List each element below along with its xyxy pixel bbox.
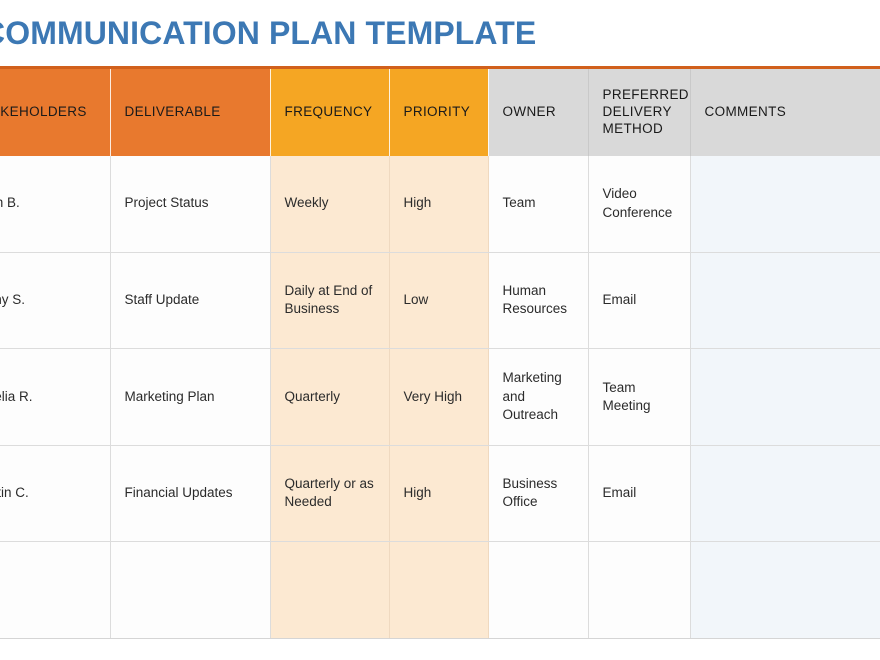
cell-stakeholders[interactable]: Martin C. (0, 445, 110, 542)
cell-stakeholders[interactable]: Amelia R. (0, 349, 110, 446)
column-header-deliverable[interactable]: DELIVERABLE (110, 68, 270, 156)
column-header-stakeholders[interactable]: STAKEHOLDERS (0, 68, 110, 156)
cell-frequency[interactable]: Quarterly or as Needed (270, 445, 389, 542)
cell-method[interactable] (588, 542, 690, 639)
cell-method[interactable]: Team Meeting (588, 349, 690, 446)
table-row: Martin C. Financial Updates Quarterly or… (0, 445, 880, 542)
cell-frequency[interactable]: Weekly (270, 156, 389, 253)
table-row (0, 542, 880, 639)
table-header-row: STAKEHOLDERS DELIVERABLE FREQUENCY PRIOR… (0, 68, 880, 156)
cell-comments[interactable] (690, 252, 880, 349)
column-header-frequency[interactable]: FREQUENCY (270, 68, 389, 156)
cell-owner[interactable] (488, 542, 588, 639)
cell-owner[interactable]: Human Resources (488, 252, 588, 349)
cell-stakeholders[interactable] (0, 542, 110, 639)
cell-comments[interactable] (690, 542, 880, 639)
cell-owner[interactable]: Marketing and Outreach (488, 349, 588, 446)
communication-plan-table: STAKEHOLDERS DELIVERABLE FREQUENCY PRIOR… (0, 66, 880, 639)
plan-table-container: STAKEHOLDERS DELIVERABLE FREQUENCY PRIOR… (0, 66, 880, 639)
cell-owner[interactable]: Team (488, 156, 588, 253)
cell-priority[interactable]: High (389, 156, 488, 253)
column-header-priority[interactable]: PRIORITY (389, 68, 488, 156)
cell-frequency[interactable] (270, 542, 389, 639)
cell-priority[interactable]: High (389, 445, 488, 542)
table-row: John B. Project Status Weekly High Team … (0, 156, 880, 253)
cell-priority[interactable]: Very High (389, 349, 488, 446)
cell-method[interactable]: Email (588, 445, 690, 542)
table-row: Amelia R. Marketing Plan Quarterly Very … (0, 349, 880, 446)
cell-deliverable[interactable]: Financial Updates (110, 445, 270, 542)
page-title: COMMUNICATION PLAN TEMPLATE (0, 17, 536, 49)
cell-comments[interactable] (690, 349, 880, 446)
title-bar: COMMUNICATION PLAN TEMPLATE (0, 0, 880, 66)
cell-stakeholders[interactable]: John B. (0, 156, 110, 253)
cell-deliverable[interactable]: Marketing Plan (110, 349, 270, 446)
cell-frequency[interactable]: Quarterly (270, 349, 389, 446)
cell-method[interactable]: Video Conference (588, 156, 690, 253)
cell-method[interactable]: Email (588, 252, 690, 349)
cell-deliverable[interactable]: Project Status (110, 156, 270, 253)
cell-comments[interactable] (690, 156, 880, 253)
table-header: STAKEHOLDERS DELIVERABLE FREQUENCY PRIOR… (0, 68, 880, 156)
cell-deliverable[interactable] (110, 542, 270, 639)
table-body: John B. Project Status Weekly High Team … (0, 156, 880, 639)
cell-deliverable[interactable]: Staff Update (110, 252, 270, 349)
communication-plan-page: COMMUNICATION PLAN TEMPLATE STAKEHOLDERS… (0, 0, 880, 660)
cell-priority[interactable] (389, 542, 488, 639)
cell-frequency[interactable]: Daily at End of Business (270, 252, 389, 349)
table-row: Kathy S. Staff Update Daily at End of Bu… (0, 252, 880, 349)
column-header-owner[interactable]: OWNER (488, 68, 588, 156)
cell-priority[interactable]: Low (389, 252, 488, 349)
column-header-preferred-delivery-method[interactable]: PREFERRED DELIVERY METHOD (588, 68, 690, 156)
column-header-comments[interactable]: COMMENTS (690, 68, 880, 156)
cell-owner[interactable]: Business Office (488, 445, 588, 542)
cell-comments[interactable] (690, 445, 880, 542)
cell-stakeholders[interactable]: Kathy S. (0, 252, 110, 349)
